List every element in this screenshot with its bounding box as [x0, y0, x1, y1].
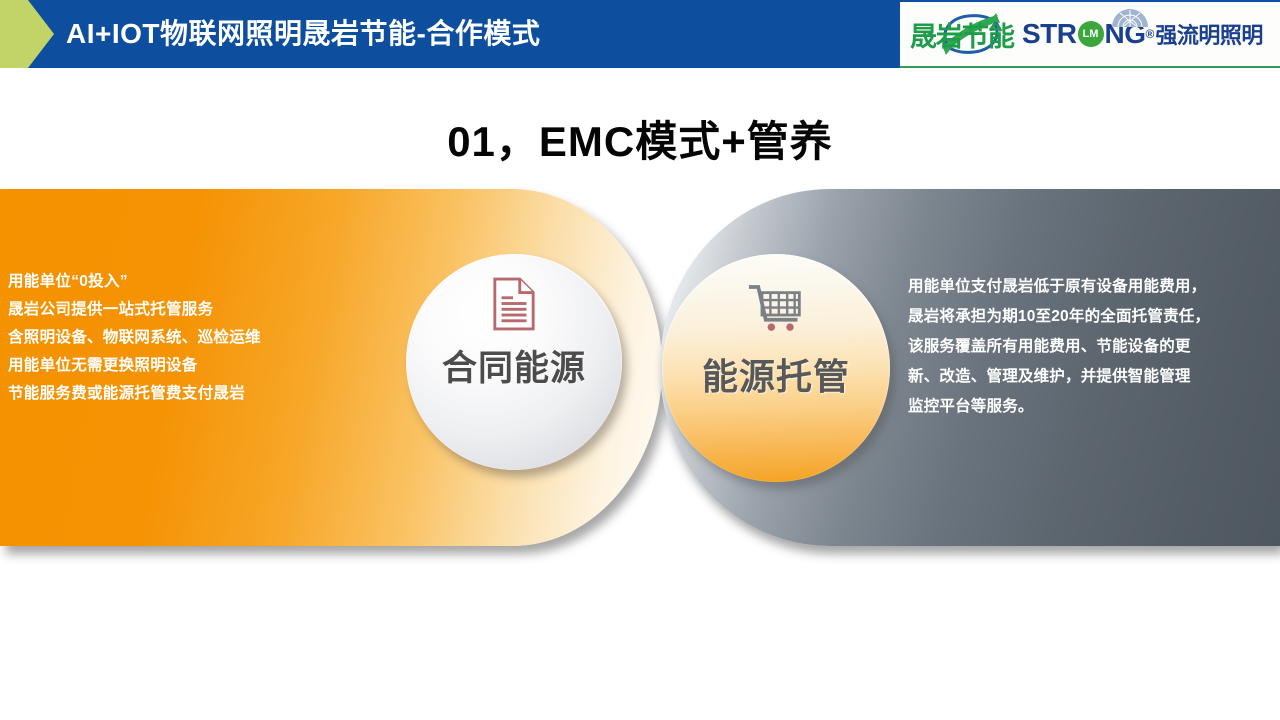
left-text-line: 节能服务费或能源托管费支付晟岩	[8, 380, 338, 408]
logo-lm-badge-icon: LM	[1078, 21, 1104, 47]
right-text-line: 新、改造、管理及维护，并提供智能管理	[908, 362, 1276, 392]
logo-strong-brand: STR LM NG ® 强流明照明	[1022, 18, 1263, 50]
right-text-line: 该服务覆盖所有用能费用、节能设备的更	[908, 332, 1276, 362]
left-text-line: 晟岩公司提供一站式托管服务	[8, 296, 338, 324]
page-title: 01，EMC模式+管养	[0, 108, 1280, 169]
contract-energy-circle[interactable]: 合同能源	[406, 254, 622, 470]
registered-trademark-icon: ®	[1146, 27, 1155, 41]
left-text-line: 含照明设备、物联网系统、巡检运维	[8, 324, 338, 352]
contract-energy-label: 合同能源	[442, 340, 586, 391]
logo-company-name: 晟岩节能	[910, 15, 1014, 54]
blue-fan-icon	[1110, 8, 1150, 28]
right-panel-text: 用能单位支付晟岩低于原有设备用能费用， 晟岩将承担为期10至20年的全面托管责任…	[908, 272, 1276, 422]
logo-chinese-wordmark: 晟岩节能	[910, 6, 1014, 62]
left-panel-text: 用能单位“0投入” 晟岩公司提供一站式托管服务 含照明设备、物联网系统、巡检运维…	[8, 268, 338, 408]
right-chevron-arrow-icon	[0, 0, 54, 68]
logo-brand-chinese: 强流明照明	[1155, 18, 1263, 50]
right-text-line: 用能单位支付晟岩低于原有设备用能费用，	[908, 272, 1276, 302]
energy-trusteeship-label: 能源托管	[702, 348, 850, 400]
logo-brand-prefix: STR	[1022, 18, 1077, 50]
right-text-line: 监控平台等服务。	[908, 392, 1276, 422]
shopping-cart-icon	[746, 278, 806, 338]
company-logo: 晟岩节能 STR LM NG ® 强流明照明	[900, 2, 1280, 68]
document-icon	[484, 274, 544, 334]
energy-trusteeship-circle[interactable]: 能源托管	[662, 254, 890, 482]
left-text-line: 用能单位无需更换照明设备	[8, 352, 338, 380]
header-title: AI+IOT物联网照明晟岩节能-合作模式	[66, 0, 540, 68]
left-text-line: 用能单位“0投入”	[8, 268, 338, 296]
right-text-line: 晟岩将承担为期10至20年的全面托管责任，	[908, 302, 1276, 332]
